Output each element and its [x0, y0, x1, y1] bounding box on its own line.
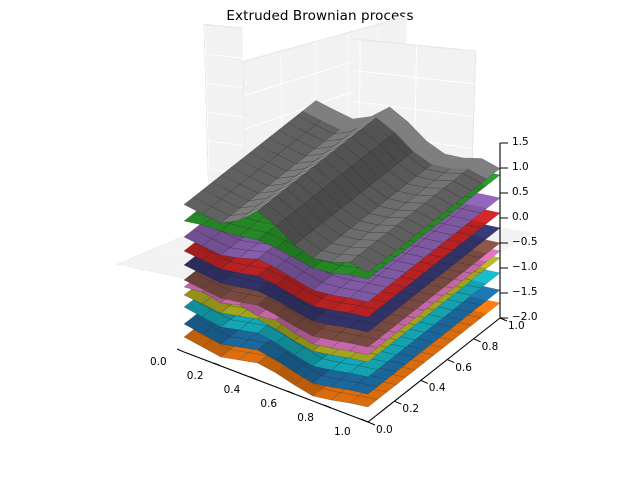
z-tick-label: 1.5 — [512, 136, 529, 148]
x-tick — [177, 349, 184, 352]
z-tick-label: −2.0 — [512, 311, 538, 323]
y-axis-spine — [368, 318, 500, 422]
z-tick-label: 1.0 — [512, 161, 529, 173]
y-tick-label: 0.6 — [455, 362, 472, 374]
y-tick — [368, 422, 375, 425]
z-tick-label: 0.5 — [512, 186, 529, 198]
x-tick — [287, 391, 294, 394]
y-tick-label: 0.2 — [402, 403, 419, 415]
x-tick-label: 0.4 — [224, 384, 241, 396]
z-tick-label: −1.0 — [512, 261, 538, 273]
x-tick-label: 0.0 — [150, 356, 167, 368]
z-tick-label: −1.5 — [512, 286, 538, 298]
y-tick-label: 0.4 — [429, 382, 446, 394]
x-tick-label: 0.8 — [297, 412, 314, 424]
y-tick-label: 0.8 — [482, 341, 499, 353]
x-tick — [361, 419, 368, 422]
z-tick-label: −0.5 — [512, 236, 538, 248]
x-tick-label: 1.0 — [334, 426, 351, 438]
matplotlib-figure: Extruded Brownian process 0.00.20.40.60.… — [0, 0, 640, 480]
axes-overlay — [0, 0, 640, 480]
y-tick — [474, 339, 481, 342]
y-tick — [447, 360, 454, 363]
y-tick — [394, 401, 401, 404]
x-tick-label: 0.6 — [260, 398, 277, 410]
y-tick — [421, 380, 428, 383]
y-tick-label: 0.0 — [376, 424, 393, 436]
x-tick-label: 0.2 — [187, 370, 204, 382]
x-tick — [214, 363, 221, 366]
x-tick — [324, 405, 331, 408]
x-tick — [251, 377, 258, 380]
x-axis-spine — [184, 352, 368, 422]
z-tick-label: 0.0 — [512, 211, 529, 223]
